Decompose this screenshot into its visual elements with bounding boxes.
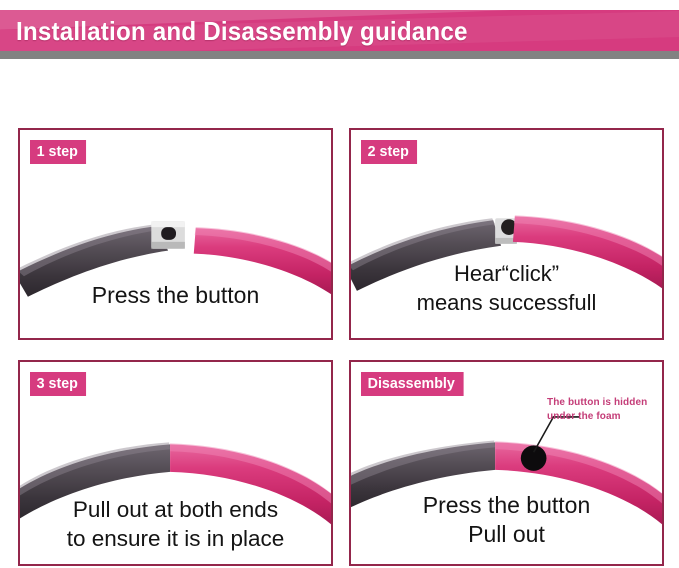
step-panel-1: 1 step Press the button xyxy=(18,128,333,340)
step-panel-2: 2 step Hear“click” means successfull xyxy=(349,128,664,340)
step-panel-3: 3 step Pull out at both ends to ensure i… xyxy=(18,360,333,566)
hidden-button-marker xyxy=(521,445,547,470)
step-badge-3: 3 step xyxy=(30,372,86,396)
header-underline-bar xyxy=(0,51,679,59)
step-badge-disassembly: Disassembly xyxy=(361,372,463,396)
page-title: Installation and Disassembly guidance xyxy=(16,16,468,46)
step-badge-1: 1 step xyxy=(30,140,86,164)
step-caption-1: Press the button xyxy=(20,281,331,310)
step-caption-3: Pull out at both ends to ensure it is in… xyxy=(20,495,331,553)
step-panel-4: Disassembly The button is hidden under t… xyxy=(349,360,664,566)
step-badge-2: 2 step xyxy=(361,140,417,164)
page-header: Installation and Disassembly guidance xyxy=(0,10,679,58)
step-caption-2: Hear“click” means successfull xyxy=(351,259,662,317)
step-caption-4: Press the button Pull out xyxy=(351,491,662,549)
hidden-button-annotation: The button is hidden under the foam xyxy=(547,396,647,423)
